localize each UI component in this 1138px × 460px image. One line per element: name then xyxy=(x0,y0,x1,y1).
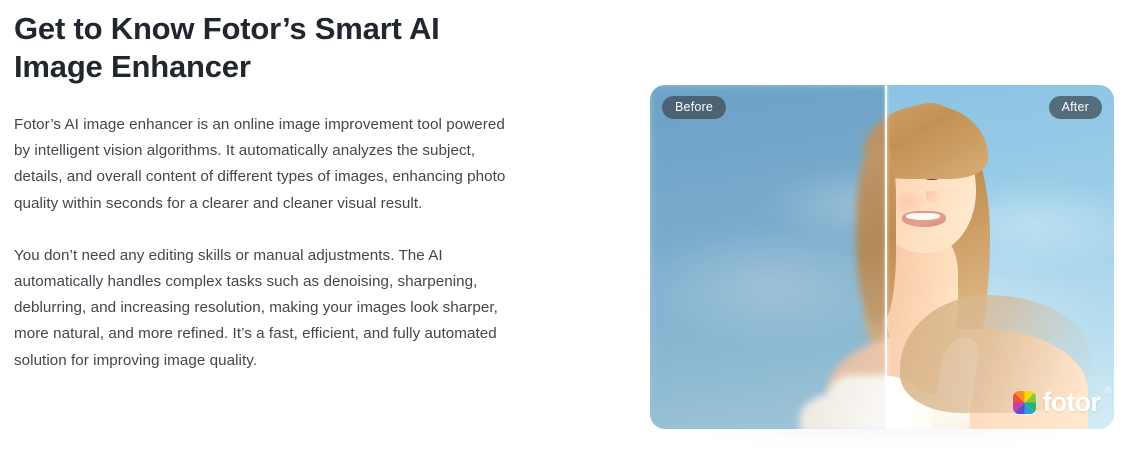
before-scene xyxy=(650,85,885,429)
portrait-subject-after xyxy=(886,85,1114,429)
before-after-comparison[interactable]: Before After xyxy=(650,85,1114,429)
after-image-half xyxy=(886,85,1114,429)
registered-trademark-symbol: ® xyxy=(1104,387,1111,397)
comparison-image-panel[interactable]: Before After xyxy=(650,85,1114,429)
before-badge: Before xyxy=(662,96,726,119)
before-after-slider-handle[interactable] xyxy=(885,85,887,429)
section-paragraph-2: You don’t need any editing skills or man… xyxy=(14,243,514,374)
ai-image-enhancer-section: Get to Know Fotor’s Smart AI Image Enhan… xyxy=(0,0,1138,460)
fotor-watermark: fotor ® xyxy=(1013,389,1100,416)
before-image-half xyxy=(650,85,885,429)
text-column: Get to Know Fotor’s Smart AI Image Enhan… xyxy=(14,10,530,374)
white-top-bodice xyxy=(800,391,885,429)
hair-front xyxy=(886,105,988,179)
after-scene xyxy=(886,85,1114,429)
nose xyxy=(926,191,942,203)
fotor-wordmark: fotor ® xyxy=(1043,389,1100,416)
section-headline: Get to Know Fotor’s Smart AI Image Enhan… xyxy=(14,10,494,86)
teeth xyxy=(906,213,940,220)
hair-side xyxy=(856,143,885,325)
section-paragraph-1: Fotor’s AI image enhancer is an online i… xyxy=(14,112,514,217)
after-badge: After xyxy=(1049,96,1102,119)
fotor-color-wheel-logo-icon xyxy=(1013,391,1036,414)
portrait-subject-before xyxy=(650,85,885,429)
fotor-brand-text: fotor xyxy=(1043,387,1100,417)
